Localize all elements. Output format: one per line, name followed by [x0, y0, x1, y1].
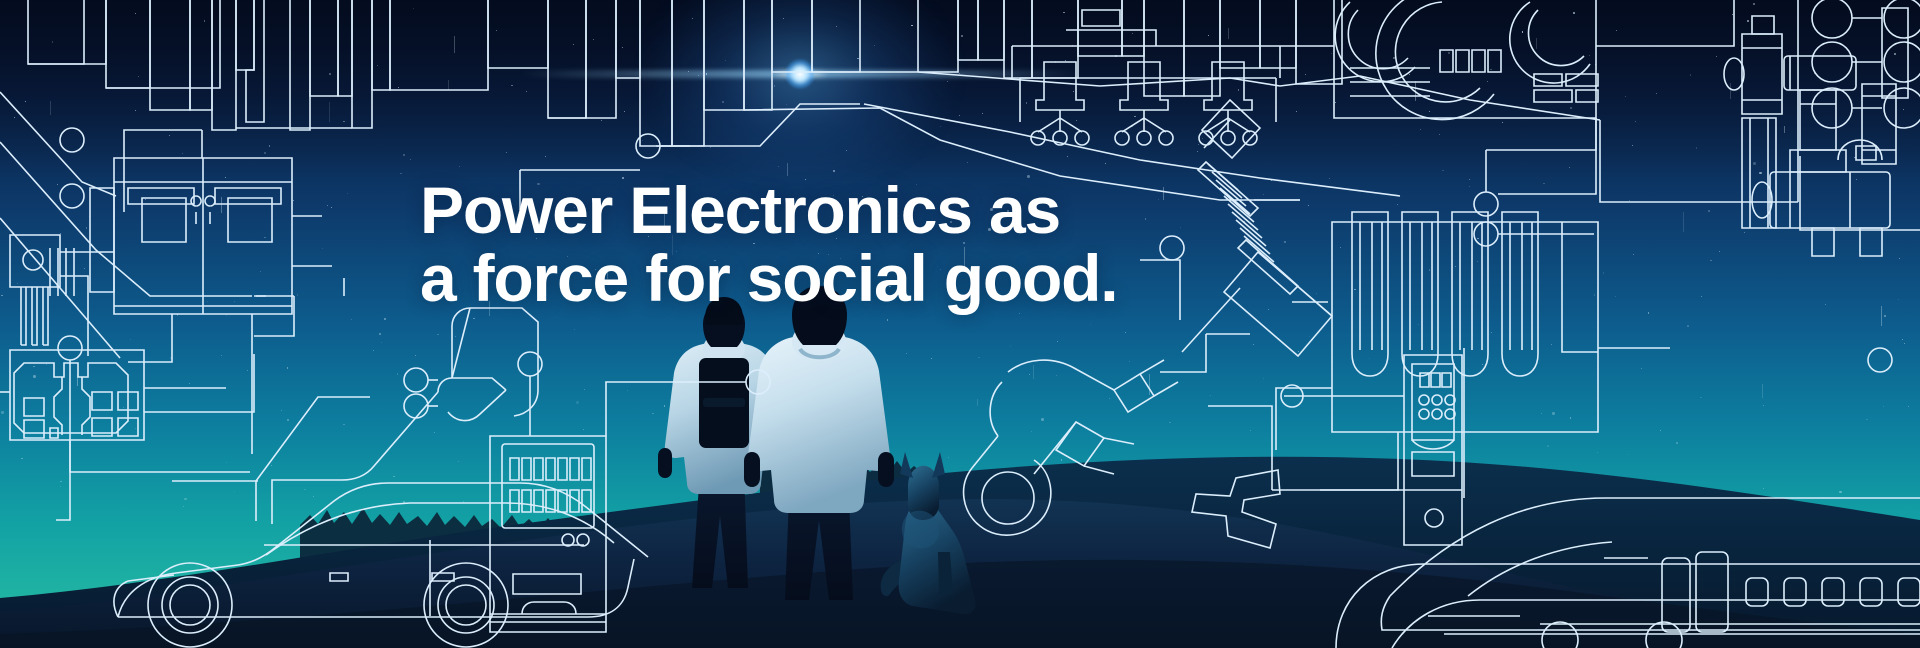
hero-banner: Power Electronics as a force for social …: [0, 0, 1920, 648]
robot-gripper-icon: [964, 334, 1250, 535]
electrical-cabinet-icon: [90, 130, 332, 454]
wrench-icon: [1192, 470, 1280, 548]
headline-line-2: a force for social good.: [420, 245, 1180, 312]
pipe-manifold-icon: [1724, 0, 1920, 256]
vending-machine-icon: [490, 352, 770, 632]
control-dials-panel-icon: [1280, 0, 1734, 246]
motor-drive-unit-icon: [1208, 355, 1462, 545]
striped-bar-icon: [50, 248, 74, 296]
technical-lineart-overlay: [0, 0, 1920, 648]
hero-headline: Power Electronics as a force for social …: [420, 177, 1180, 312]
to220-transistor-icon: [10, 235, 114, 356]
industrial-skyline-icon: [28, 0, 1798, 202]
bullet-train-icon: [1336, 348, 1920, 648]
node-connector-icon: [0, 92, 266, 472]
capacitor-bank-icon: [1276, 212, 1892, 490]
office-chairs-icon: [1012, 10, 1280, 145]
pcb-chip-icon: [0, 350, 254, 520]
ev-charging-plug-icon: [172, 308, 538, 524]
headline-line-1: Power Electronics as: [420, 173, 1060, 247]
